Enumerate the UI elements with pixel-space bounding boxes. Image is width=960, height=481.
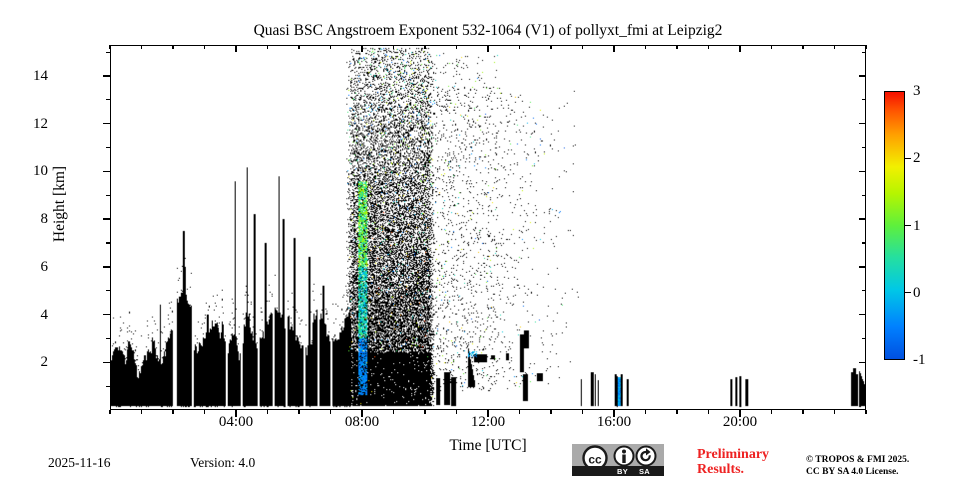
cc-by-label: BY	[617, 467, 628, 476]
x-minor-tick-mark	[393, 410, 394, 414]
y-tick-label: 12	[0, 117, 48, 131]
svg-text:cc: cc	[588, 453, 602, 467]
x-minor-tick-mark	[519, 410, 520, 414]
x-minor-tick-mark	[141, 45, 142, 49]
colorbar-tick-mark	[905, 225, 911, 226]
y-tick-mark	[103, 123, 110, 124]
colorbar-tick-label: -1	[913, 353, 926, 367]
x-minor-tick-mark	[802, 45, 803, 49]
y-tick-label: 14	[0, 69, 48, 83]
x-minor-tick-mark	[141, 410, 142, 414]
y-tick-mark	[859, 171, 866, 172]
page-title: Quasi BSC Angstroem Exponent 532-1064 (V…	[110, 22, 866, 40]
y-minor-tick-mark	[106, 338, 110, 339]
y-tick-mark	[103, 75, 110, 76]
y-tick-label: 10	[0, 164, 48, 178]
y-minor-tick-mark	[862, 386, 866, 387]
x-tick-mark	[235, 45, 236, 52]
x-minor-tick-mark	[172, 45, 173, 49]
y-minor-tick-mark	[862, 290, 866, 291]
x-minor-tick-mark	[204, 45, 205, 49]
x-tick-mark	[739, 410, 740, 417]
x-minor-tick-mark	[109, 45, 110, 49]
y-minor-tick-mark	[862, 338, 866, 339]
y-minor-tick-mark	[106, 386, 110, 387]
preliminary-results-note: Preliminary Results.	[697, 447, 769, 477]
cc-sa-label: SA	[639, 467, 650, 476]
y-minor-tick-mark	[106, 147, 110, 148]
y-minor-tick-mark	[862, 195, 866, 196]
x-tick-mark	[235, 410, 236, 417]
x-tick-mark	[613, 410, 614, 417]
x-minor-tick-mark	[645, 45, 646, 49]
y-tick-mark	[103, 362, 110, 363]
colorbar-tick-label: 0	[913, 286, 921, 300]
y-tick-mark	[859, 362, 866, 363]
x-minor-tick-mark	[550, 45, 551, 49]
x-minor-tick-mark	[834, 410, 835, 414]
x-minor-tick-mark	[676, 410, 677, 414]
colorbar-gradient	[885, 92, 904, 359]
pollyxt-quicklook-figure: Quasi BSC Angstroem Exponent 532-1064 (V…	[0, 0, 960, 480]
y-minor-tick-mark	[862, 147, 866, 148]
y-minor-tick-mark	[106, 242, 110, 243]
x-minor-tick-mark	[676, 45, 677, 49]
x-minor-tick-mark	[582, 45, 583, 49]
copyright-note: © TROPOS & FMI 2025. CC BY SA 4.0 Licens…	[806, 455, 909, 478]
preliminary-line-2: Results.	[697, 462, 769, 477]
y-tick-label: 2	[0, 355, 48, 369]
x-minor-tick-mark	[330, 410, 331, 414]
x-minor-tick-mark	[519, 45, 520, 49]
x-minor-tick-mark	[834, 45, 835, 49]
x-minor-tick-mark	[582, 410, 583, 414]
x-tick-mark	[739, 45, 740, 52]
y-minor-tick-mark	[862, 99, 866, 100]
colorbar-tick-label: 1	[913, 219, 921, 233]
x-minor-tick-mark	[865, 45, 866, 49]
preliminary-line-1: Preliminary	[697, 447, 769, 462]
x-minor-tick-mark	[865, 410, 866, 414]
y-tick-mark	[859, 75, 866, 76]
x-tick-mark	[487, 45, 488, 52]
x-minor-tick-mark	[424, 45, 425, 49]
y-tick-mark	[859, 266, 866, 267]
x-minor-tick-mark	[267, 45, 268, 49]
x-minor-tick-mark	[771, 45, 772, 49]
y-minor-tick-mark	[106, 52, 110, 53]
x-minor-tick-mark	[393, 45, 394, 49]
colorbar	[884, 91, 905, 360]
plot-data-canvas	[111, 46, 865, 409]
x-minor-tick-mark	[330, 45, 331, 49]
y-tick-mark	[859, 314, 866, 315]
y-tick-mark	[859, 218, 866, 219]
y-tick-label: 4	[0, 308, 48, 322]
y-minor-tick-mark	[106, 99, 110, 100]
x-minor-tick-mark	[109, 410, 110, 414]
colorbar-tick-label: 3	[913, 84, 921, 98]
x-minor-tick-mark	[204, 410, 205, 414]
x-minor-tick-mark	[298, 410, 299, 414]
copyright-line-1: © TROPOS & FMI 2025.	[806, 455, 909, 467]
colorbar-tick-mark	[905, 158, 911, 159]
x-tick-mark	[361, 410, 362, 417]
x-minor-tick-mark	[645, 410, 646, 414]
x-minor-tick-mark	[708, 45, 709, 49]
y-tick-mark	[103, 266, 110, 267]
plot-axes	[110, 45, 866, 410]
y-tick-mark	[103, 218, 110, 219]
y-minor-tick-mark	[862, 52, 866, 53]
y-minor-tick-mark	[106, 290, 110, 291]
x-tick-mark	[487, 410, 488, 417]
x-minor-tick-mark	[424, 410, 425, 414]
x-minor-tick-mark	[172, 410, 173, 414]
x-tick-mark	[613, 45, 614, 52]
y-minor-tick-mark	[862, 242, 866, 243]
footer-version: Version: 4.0	[190, 455, 255, 471]
x-minor-tick-mark	[550, 410, 551, 414]
x-minor-tick-mark	[298, 45, 299, 49]
y-tick-label: 6	[0, 260, 48, 274]
x-minor-tick-mark	[771, 410, 772, 414]
x-minor-tick-mark	[456, 410, 457, 414]
x-minor-tick-mark	[802, 410, 803, 414]
y-tick-mark	[859, 123, 866, 124]
y-tick-mark	[103, 171, 110, 172]
footer-date: 2025-11-16	[48, 455, 111, 471]
y-minor-tick-mark	[106, 195, 110, 196]
colorbar-tick-label: 2	[913, 151, 921, 165]
y-axis-label: Height [km]	[51, 124, 69, 284]
colorbar-tick-mark	[905, 292, 911, 293]
x-minor-tick-mark	[708, 410, 709, 414]
x-minor-tick-mark	[267, 410, 268, 414]
y-tick-label: 8	[0, 212, 48, 226]
x-minor-tick-mark	[456, 45, 457, 49]
copyright-line-2: CC BY SA 4.0 License.	[806, 467, 909, 479]
y-tick-mark	[103, 314, 110, 315]
x-tick-mark	[361, 45, 362, 52]
cc-license-badge[interactable]: cc BY SA	[572, 444, 664, 476]
